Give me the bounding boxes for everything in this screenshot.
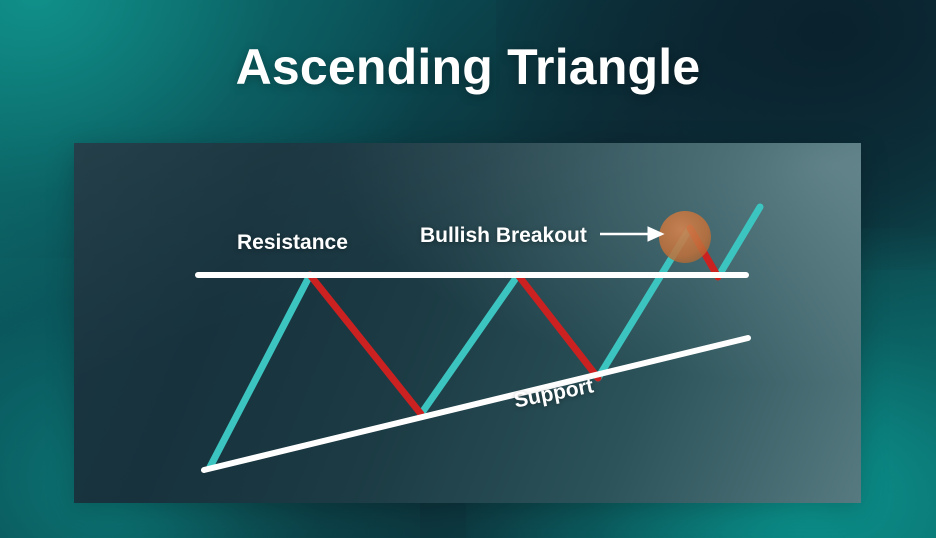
resistance-label: Resistance <box>237 231 348 255</box>
price-down-legs <box>310 228 718 414</box>
chart-panel <box>74 143 861 503</box>
chart-svg <box>74 143 861 503</box>
up-leg-4 <box>718 207 760 277</box>
breakout-circle <box>659 211 711 263</box>
slide-canvas: Ascending Triangle <box>0 0 936 538</box>
breakout-label: Bullish Breakout <box>420 224 587 248</box>
down-leg-1 <box>310 275 421 414</box>
page-title: Ascending Triangle <box>0 38 936 96</box>
up-leg-1 <box>210 275 310 467</box>
up-leg-2 <box>421 275 518 414</box>
down-leg-2 <box>518 275 598 378</box>
support-line <box>204 338 748 470</box>
